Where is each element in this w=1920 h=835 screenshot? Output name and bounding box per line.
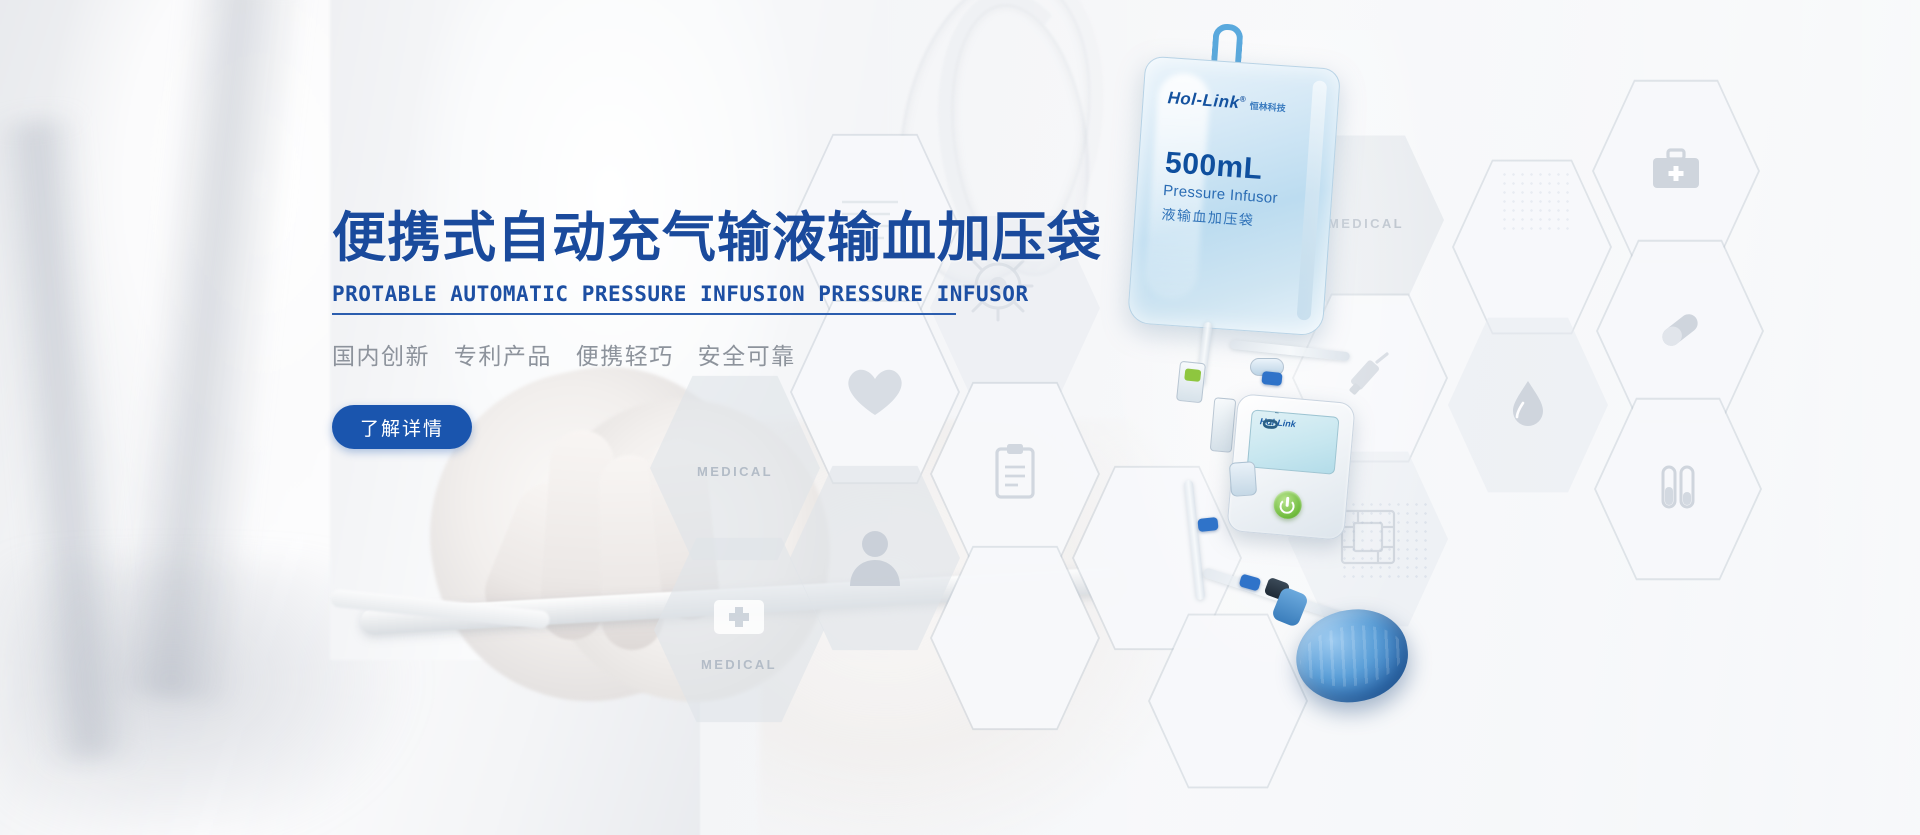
subtitle-block: PROTABLE AUTOMATIC PRESSURE INFUSION PRE… bbox=[332, 282, 956, 315]
page-title: 便携式自动充气输液输血加压袋 bbox=[332, 208, 992, 268]
feature-item: 安全可靠 bbox=[698, 343, 796, 369]
hero-banner: MEDICAL bbox=[0, 0, 1920, 835]
subtitle-underline bbox=[332, 313, 956, 315]
roller-clamp bbox=[1229, 461, 1257, 497]
learn-more-button[interactable]: 了解详情 bbox=[332, 405, 472, 449]
tube-clamp bbox=[1197, 517, 1218, 532]
bulb-texture bbox=[1296, 619, 1407, 693]
bag-brand-cn: 恒林科技 bbox=[1249, 101, 1286, 113]
tube-clamp bbox=[1261, 371, 1282, 386]
device-reading: 0.86 bbox=[1258, 409, 1286, 431]
bag-volume: 500mL bbox=[1164, 146, 1264, 187]
tube-valve bbox=[1176, 361, 1206, 403]
bag-seam bbox=[1297, 80, 1328, 320]
drip-chamber bbox=[1210, 397, 1237, 453]
bag-brand-text: Hol-Link bbox=[1167, 88, 1240, 112]
subtitle-english: PROTABLE AUTOMATIC PRESSURE INFUSION PRE… bbox=[332, 282, 956, 306]
registered-mark: ® bbox=[1239, 95, 1246, 104]
feature-item: 专利产品 bbox=[454, 343, 552, 369]
iv-tube bbox=[1184, 480, 1205, 600]
product-image: Hol-Link®恒林科技 500mL Pressure Infusor 液输血… bbox=[1080, 10, 1510, 810]
feature-item: 国内创新 bbox=[332, 343, 430, 369]
feature-list: 国内创新 专利产品 便携轻巧 安全可靠 bbox=[332, 337, 992, 371]
inflation-bulb-pump bbox=[1290, 603, 1414, 710]
feature-item: 便携轻巧 bbox=[576, 343, 674, 369]
iv-tube bbox=[1230, 340, 1350, 361]
device-display: Hol-Link 0.86 bbox=[1247, 409, 1340, 474]
banner-copy: 便携式自动充气输液输血加压袋 PROTABLE AUTOMATIC PRESSU… bbox=[332, 208, 992, 449]
pressure-infusion-bag: Hol-Link®恒林科技 500mL Pressure Infusor 液输血… bbox=[1127, 55, 1341, 336]
